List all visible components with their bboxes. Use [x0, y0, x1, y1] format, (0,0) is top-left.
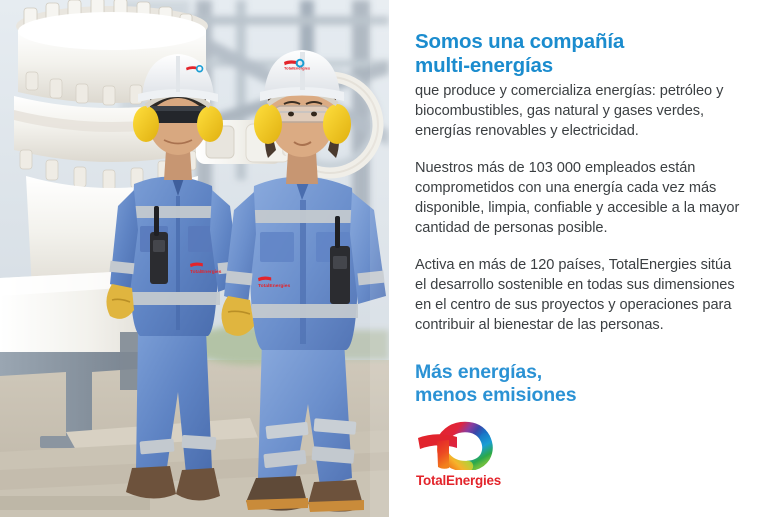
tagline: Más energías, menos emisiones [415, 361, 744, 408]
svg-text:TotalEnergies: TotalEnergies [284, 66, 311, 71]
paragraph-2: Nuestros más de 103 000 empleados están … [415, 159, 744, 239]
portable-radio [150, 232, 168, 284]
ear-defender [197, 106, 223, 142]
paragraph-3: Activa en más de 120 países, TotalEnergi… [415, 256, 744, 336]
tagline-line-1: Más energías, [415, 361, 542, 383]
ear-defender [323, 104, 351, 144]
svg-text:TotalEnergies: TotalEnergies [258, 283, 291, 289]
svg-text:TotalEnergies: TotalEnergies [190, 269, 222, 275]
brand-logo: TotalEnergies [414, 420, 534, 488]
hero-photo: TotalEnergies [0, 0, 389, 517]
ear-defender [133, 106, 159, 142]
page-title: Somos una compañía multi-energías [415, 30, 744, 79]
tagline-line-2: menos emisiones [415, 384, 744, 407]
ear-defender [254, 104, 282, 144]
work-glove [221, 296, 254, 336]
safety-glasses [274, 106, 330, 122]
paragraph-1: que produce y comercializa energías: pet… [415, 82, 744, 142]
headline-line-2: multi-energías [415, 54, 744, 78]
headline-line-1: Somos una compañía [415, 30, 624, 53]
promotional-page: TotalEnergies [0, 0, 768, 517]
logo-wordmark: TotalEnergies [416, 473, 534, 488]
portable-radio [330, 246, 350, 304]
totalenergies-swirl-logo [414, 420, 498, 470]
industrial-workers-illustration: TotalEnergies [0, 0, 389, 517]
